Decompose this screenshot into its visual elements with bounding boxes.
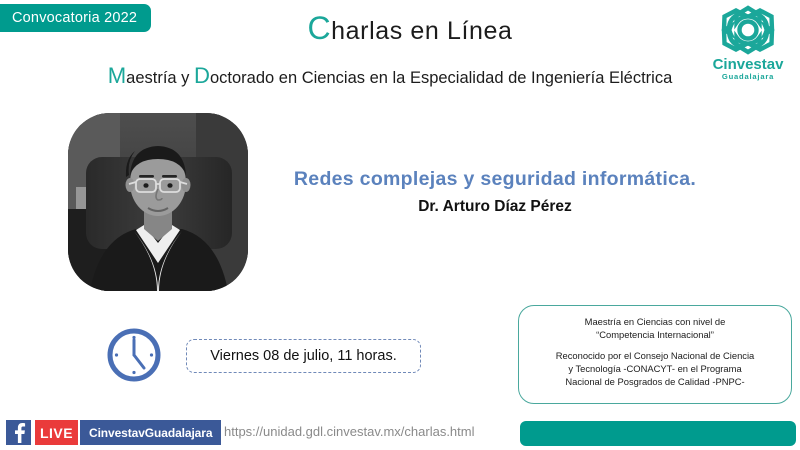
logo-city: Guadalajara [722,73,774,81]
title-dropcap: C [307,10,331,46]
site-url-text: https://unidad.gdl.cinvestav.mx/charlas.… [224,424,475,439]
site-url[interactable]: https://unidad.gdl.cinvestav.mx/charlas.… [224,424,475,439]
clock-icon [104,325,164,385]
speaker-photo [68,113,248,291]
accreditation-line-1: Maestría en Ciencias con nivel de [529,315,781,328]
live-badge: LIVE [35,420,78,445]
convocatoria-badge: Convocatoria 2022 [0,4,151,32]
subtitle-dropcap-m: M [108,63,126,88]
facebook-handle-label: CinvestavGuadalajara [89,426,212,440]
cinvestav-emblem-icon [719,4,777,56]
title-text: harlas en Línea [331,17,512,45]
event-date-box: Viernes 08 de julio, 11 horas. [186,339,421,373]
subtitle-dropcap-d: D [194,63,210,88]
accreditation-line-3: Reconocido por el Consejo Nacional de Ci… [529,349,781,362]
accreditation-line-5: Nacional de Posgrados de Calidad -PNPC- [529,375,781,388]
subtitle-text-1: aestría y [126,69,194,87]
accreditation-spacer [529,342,781,349]
accreditation-line-4: y Tecnología -CONACYT- en el Programa [529,362,781,375]
logo-name: Cinvestav [713,57,784,72]
facebook-icon[interactable] [6,420,31,445]
poster-canvas: Convocatoria 2022 Charlas en Línea Maest… [0,0,800,450]
live-badge-label: LIVE [40,425,73,441]
subtitle-text-2: octorado en Ciencias en la Especialidad … [210,69,672,87]
accreditation-line-2: “Competencia Internacional” [529,328,781,341]
page-title: Charlas en Línea [150,17,670,46]
event-date-text: Viernes 08 de julio, 11 horas. [210,348,396,364]
accreditation-box: Maestría en Ciencias con nivel de “Compe… [518,305,792,404]
convocatoria-badge-label: Convocatoria 2022 [12,10,137,26]
talk-title: Redes complejas y seguridad informática. [270,168,720,191]
cinvestav-logo: Cinvestav Guadalajara [704,4,792,86]
page-subtitle: Maestría y Doctorado en Ciencias en la E… [70,69,710,88]
speaker-name: Dr. Arturo Díaz Pérez [270,198,720,216]
facebook-handle[interactable]: CinvestavGuadalajara [80,420,221,445]
footer-accent-bar [520,421,796,446]
